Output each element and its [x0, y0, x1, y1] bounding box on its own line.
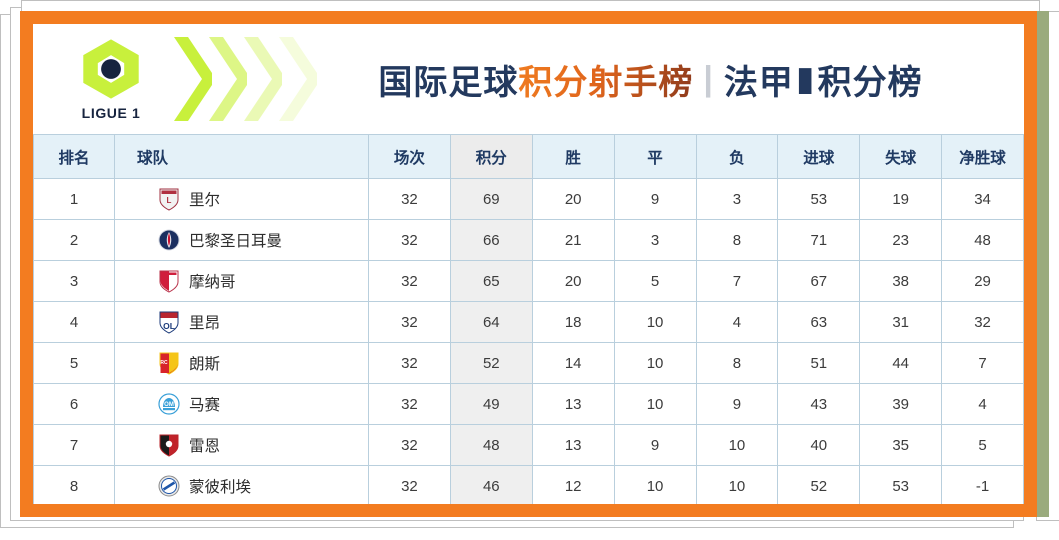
cell-played: 32 — [369, 466, 451, 505]
orange-frame: LIGUE 1 国际足球 — [20, 11, 1037, 517]
svg-text:OM: OM — [164, 402, 174, 408]
psg-crest-icon — [158, 228, 180, 252]
table-row[interactable]: 5 RC 朗斯 32521410851447 — [34, 343, 1024, 384]
title-separator: | — [693, 60, 724, 99]
standings-table: 排名 球队 场次 积分 胜 平 负 进球 失球 净胜球 1 L 里尔 — [33, 134, 1024, 504]
marseille-crest-icon: OM — [158, 392, 180, 416]
cell-points: 64 — [450, 302, 532, 343]
th-loss[interactable]: 负 — [696, 135, 778, 179]
title-part-ranking: 积分射手榜 — [518, 55, 693, 104]
cell-points: 52 — [450, 343, 532, 384]
team-name: 马赛 — [189, 393, 220, 415]
cell-win: 12 — [532, 466, 614, 505]
ligue1-brand: LIGUE 1 — [51, 38, 171, 121]
montpellier-crest-icon — [158, 474, 180, 498]
cell-team[interactable]: 摩纳哥 — [115, 261, 369, 302]
cell-draw: 10 — [614, 302, 696, 343]
marseille-crest-icon: OM — [158, 392, 180, 416]
cell-loss: 9 — [696, 384, 778, 425]
cell-loss: 7 — [696, 261, 778, 302]
chevron-group — [177, 33, 317, 125]
title-bar-glyph: ▮ — [794, 59, 818, 99]
th-goals-for[interactable]: 进球 — [778, 135, 860, 179]
th-goals-against[interactable]: 失球 — [860, 135, 942, 179]
rennes-crest-icon — [158, 433, 180, 457]
team-name: 里昂 — [189, 311, 220, 333]
cell-team[interactable]: OM 马赛 — [115, 384, 369, 425]
monaco-crest-icon — [158, 269, 180, 293]
cell-loss: 3 — [696, 179, 778, 220]
cell-team[interactable]: 雷恩 — [115, 425, 369, 466]
cell-goals-against: 53 — [860, 466, 942, 505]
rennes-crest-icon — [158, 433, 180, 457]
title-part-standing: 积分榜 — [818, 55, 923, 104]
table-row[interactable]: 6 OM 马赛 32491310943394 — [34, 384, 1024, 425]
cell-draw: 10 — [614, 343, 696, 384]
cell-played: 32 — [369, 261, 451, 302]
cell-goal-diff: 4 — [942, 384, 1024, 425]
cell-team[interactable]: OL 里昂 — [115, 302, 369, 343]
cell-rank: 4 — [34, 302, 115, 343]
team-name: 蒙彼利埃 — [189, 475, 251, 497]
cell-rank: 2 — [34, 220, 115, 261]
header: LIGUE 1 国际足球 — [33, 24, 1024, 134]
table-row[interactable]: 3 摩纳哥 32652057673829 — [34, 261, 1024, 302]
cell-goal-diff: 34 — [942, 179, 1024, 220]
monaco-crest-icon — [158, 269, 180, 293]
cell-goals-against: 19 — [860, 179, 942, 220]
chevron-right-icon — [242, 33, 282, 125]
cell-played: 32 — [369, 343, 451, 384]
cell-goals-against: 38 — [860, 261, 942, 302]
svg-text:RC: RC — [160, 360, 168, 366]
lyon-crest-icon: OL — [158, 310, 180, 334]
cell-team[interactable]: L 里尔 — [115, 179, 369, 220]
lyon-crest-icon: OL — [158, 310, 180, 334]
cell-win: 21 — [532, 220, 614, 261]
ligue1-wordmark: LIGUE 1 — [82, 105, 141, 121]
cell-draw: 10 — [614, 466, 696, 505]
cell-win: 20 — [532, 261, 614, 302]
cell-rank: 6 — [34, 384, 115, 425]
cell-loss: 8 — [696, 343, 778, 384]
cell-goals-against: 31 — [860, 302, 942, 343]
chevron-right-icon — [277, 33, 317, 125]
team-name: 里尔 — [189, 188, 220, 210]
cell-goal-diff: -1 — [942, 466, 1024, 505]
table-row[interactable]: 8 蒙彼利埃 32461210105253-1 — [34, 466, 1024, 505]
cell-rank: 3 — [34, 261, 115, 302]
lille-crest-icon: L — [158, 187, 180, 211]
cell-goal-diff: 5 — [942, 425, 1024, 466]
cell-win: 20 — [532, 179, 614, 220]
cell-goals-against: 44 — [860, 343, 942, 384]
table-body: 1 L 里尔 326920935319342 巴黎圣日耳曼 3266213871… — [34, 179, 1024, 505]
cell-draw: 9 — [614, 425, 696, 466]
table-row[interactable]: 1 L 里尔 32692093531934 — [34, 179, 1024, 220]
cell-goals-against: 39 — [860, 384, 942, 425]
cell-rank: 5 — [34, 343, 115, 384]
svg-text:OL: OL — [163, 321, 175, 331]
cell-loss: 4 — [696, 302, 778, 343]
th-rank[interactable]: 排名 — [34, 135, 115, 179]
header-row: 排名 球队 场次 积分 胜 平 负 进球 失球 净胜球 — [34, 135, 1024, 179]
cell-goals-against: 35 — [860, 425, 942, 466]
th-points[interactable]: 积分 — [450, 135, 532, 179]
cell-played: 32 — [369, 179, 451, 220]
cell-points: 49 — [450, 384, 532, 425]
cell-goal-diff: 32 — [942, 302, 1024, 343]
cell-win: 18 — [532, 302, 614, 343]
th-played[interactable]: 场次 — [369, 135, 451, 179]
lens-crest-icon: RC — [158, 351, 180, 375]
cell-points: 69 — [450, 179, 532, 220]
th-goal-diff[interactable]: 净胜球 — [942, 135, 1024, 179]
table-row[interactable]: 4 OL 里昂 326418104633132 — [34, 302, 1024, 343]
cell-rank: 1 — [34, 179, 115, 220]
table-row[interactable]: 2 巴黎圣日耳曼 32662138712348 — [34, 220, 1024, 261]
cell-points: 48 — [450, 425, 532, 466]
cell-goals-for: 52 — [778, 466, 860, 505]
cell-goals-against: 23 — [860, 220, 942, 261]
card-content: LIGUE 1 国际足球 — [33, 24, 1024, 504]
cell-draw: 3 — [614, 220, 696, 261]
team-name: 巴黎圣日耳曼 — [189, 229, 282, 251]
cell-draw: 9 — [614, 179, 696, 220]
th-team[interactable]: 球队 — [115, 135, 369, 179]
cell-team[interactable]: RC 朗斯 — [115, 343, 369, 384]
psg-crest-icon — [158, 228, 180, 252]
table-row[interactable]: 7 雷恩 32481391040355 — [34, 425, 1024, 466]
montpellier-crest-icon — [158, 474, 180, 498]
cell-played: 32 — [369, 425, 451, 466]
cell-draw: 5 — [614, 261, 696, 302]
cell-goals-for: 43 — [778, 384, 860, 425]
cell-goals-for: 63 — [778, 302, 860, 343]
cell-played: 32 — [369, 220, 451, 261]
chevron-right-icon — [207, 33, 247, 125]
title-part-league: 法甲 — [724, 55, 794, 104]
chevron-right-icon — [172, 33, 212, 125]
cell-goal-diff: 48 — [942, 220, 1024, 261]
svg-text:L: L — [167, 196, 172, 205]
cell-loss: 10 — [696, 425, 778, 466]
th-win[interactable]: 胜 — [532, 135, 614, 179]
cell-goals-for: 67 — [778, 261, 860, 302]
lens-crest-icon: RC — [158, 351, 180, 375]
title-part-sport: 国际足球 — [378, 55, 518, 104]
cell-win: 13 — [532, 384, 614, 425]
team-name: 朗斯 — [189, 352, 220, 374]
cell-team[interactable]: 巴黎圣日耳曼 — [115, 220, 369, 261]
lille-crest-icon: L — [158, 187, 180, 211]
screenshot-root: LIGUE 1 国际足球 — [0, 0, 1059, 540]
table-header: 排名 球队 场次 积分 胜 平 负 进球 失球 净胜球 — [34, 135, 1024, 179]
cell-points: 65 — [450, 261, 532, 302]
cell-rank: 7 — [34, 425, 115, 466]
ligue1-hexagon-logo-icon — [78, 38, 144, 100]
cell-points: 66 — [450, 220, 532, 261]
cell-goals-for: 40 — [778, 425, 860, 466]
right-edge-green-sliver — [1037, 11, 1049, 517]
cell-goals-for: 71 — [778, 220, 860, 261]
cell-goals-for: 51 — [778, 343, 860, 384]
cell-rank: 8 — [34, 466, 115, 505]
cell-points: 46 — [450, 466, 532, 505]
cell-loss: 10 — [696, 466, 778, 505]
cell-goal-diff: 7 — [942, 343, 1024, 384]
team-name: 雷恩 — [189, 434, 220, 456]
cell-played: 32 — [369, 384, 451, 425]
cell-win: 13 — [532, 425, 614, 466]
cell-loss: 8 — [696, 220, 778, 261]
page-title: 国际足球 积分射手榜 | 法甲 ▮ 积分榜 — [317, 55, 1024, 104]
cell-goals-for: 53 — [778, 179, 860, 220]
th-draw[interactable]: 平 — [614, 135, 696, 179]
cell-draw: 10 — [614, 384, 696, 425]
cell-goal-diff: 29 — [942, 261, 1024, 302]
cell-team[interactable]: 蒙彼利埃 — [115, 466, 369, 505]
cell-played: 32 — [369, 302, 451, 343]
team-name: 摩纳哥 — [189, 270, 236, 292]
cell-win: 14 — [532, 343, 614, 384]
